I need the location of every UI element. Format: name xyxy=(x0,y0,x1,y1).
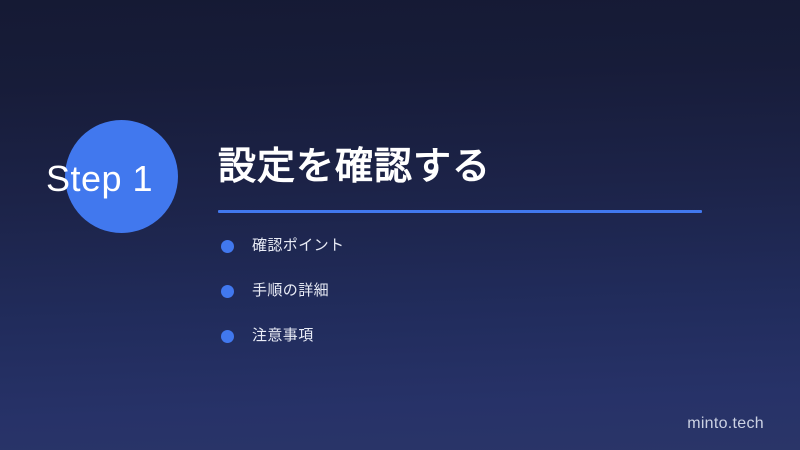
title-underline-divider xyxy=(218,210,702,213)
footer-brand-label: minto.tech xyxy=(687,414,764,434)
slide-content-block: 設定を確認する 確認ポイント 手順の詳細 注意事項 xyxy=(218,142,718,347)
list-item: 注意事項 xyxy=(218,325,718,347)
step-badge-label: Step 1 xyxy=(46,156,216,202)
list-item: 確認ポイント xyxy=(218,235,718,257)
bullet-dot-icon xyxy=(221,285,234,298)
list-item-label: 手順の詳細 xyxy=(252,280,329,302)
list-item-label: 注意事項 xyxy=(252,325,314,347)
bullet-dot-icon xyxy=(221,330,234,343)
bullet-list: 確認ポイント 手順の詳細 注意事項 xyxy=(218,235,718,347)
page-title: 設定を確認する xyxy=(218,142,718,192)
list-item-label: 確認ポイント xyxy=(252,235,344,257)
bullet-dot-icon xyxy=(221,240,234,253)
list-item: 手順の詳細 xyxy=(218,280,718,302)
slide-canvas: Step 1 設定を確認する 確認ポイント 手順の詳細 注意事項 minto.t… xyxy=(0,0,800,450)
